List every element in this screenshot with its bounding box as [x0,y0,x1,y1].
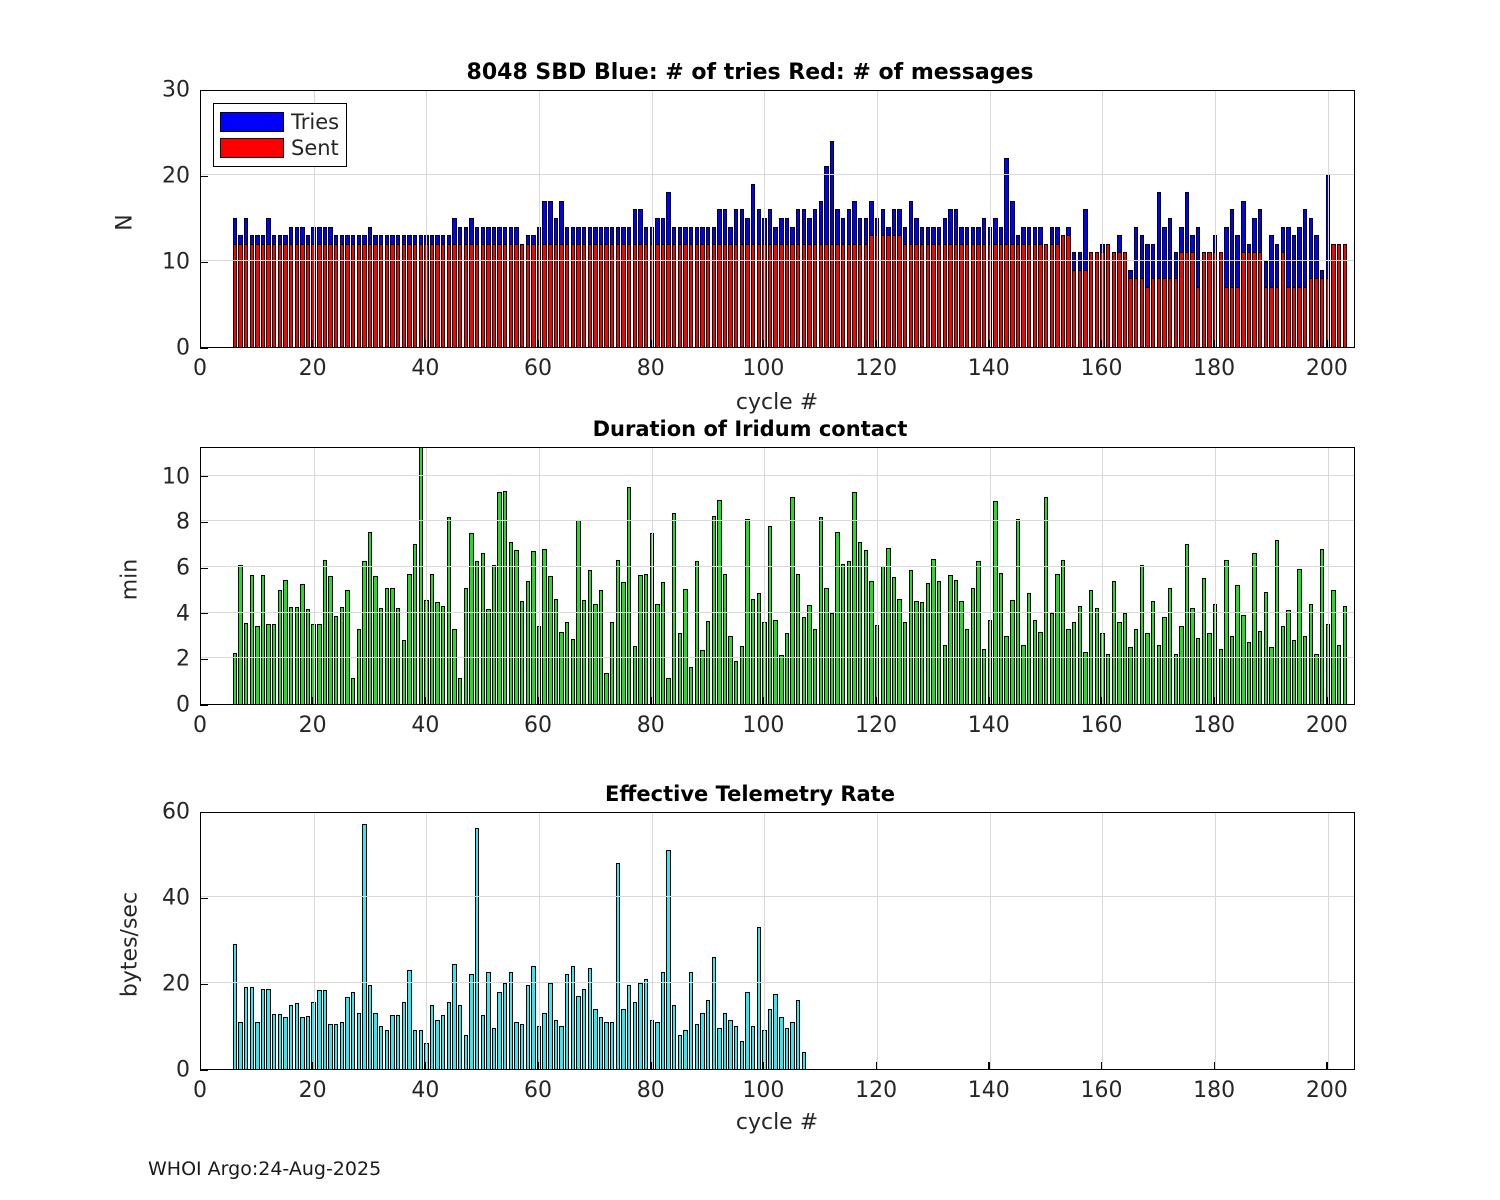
gridline-vertical [652,448,653,704]
bar-duration [1004,636,1008,704]
gridline-vertical [764,448,765,704]
gridline-vertical [1328,448,1329,704]
bar-duration [1241,615,1245,704]
bar-duration [385,588,389,704]
x-tick-label: 60 [524,356,552,381]
x-tick-label: 200 [1306,356,1348,381]
gridline-vertical [990,813,991,1069]
bar-rate [469,974,473,1069]
bar-rate [565,974,569,1069]
bar-duration [1224,560,1228,704]
y-tick-label: 10 [140,250,190,275]
bar-sent [1168,278,1172,347]
bar-sent [1309,278,1313,347]
y-axis-label-bytes-sec: bytes/sec [118,885,143,1005]
bar-duration [1066,629,1070,704]
gridline-vertical [877,813,878,1069]
bar-rate [323,990,327,1069]
y-tick-mark [200,613,208,614]
bar-duration [1145,633,1149,704]
bar-duration [689,667,693,704]
bar-duration [807,605,811,704]
bar-duration [881,566,885,704]
bar-sent [1066,235,1070,347]
bar-duration [1044,497,1048,704]
legend-sbd: Tries Sent [213,103,347,167]
bar-rate [745,992,749,1069]
gridline-vertical [314,448,315,704]
bar-duration [1089,590,1093,704]
bar-duration [886,548,890,704]
bar-sent [1264,287,1268,347]
x-tick-mark [988,1062,989,1070]
gridline-vertical [764,813,765,1069]
y-tick-label: 0 [140,336,190,361]
x-axis-label-cycle-3: cycle # [736,1110,818,1135]
bar-duration [1247,642,1251,704]
bar-duration [621,582,625,704]
bar-sent [1252,252,1256,347]
bar-rate [751,1026,755,1069]
x-tick-mark [1326,340,1327,348]
x-tick-mark [200,340,201,348]
gridline-vertical [426,91,427,347]
gridline-vertical [1328,91,1329,347]
bar-sent [1241,252,1245,347]
bar-duration [790,497,794,704]
bar-rate [695,1024,699,1069]
bar-rate [373,1013,377,1069]
bar-rate [452,964,456,1069]
bar-duration [328,576,332,704]
bar-duration [542,549,546,704]
bar-duration [712,516,716,704]
bar-duration [565,622,569,704]
bar-duration [740,646,744,704]
bar-rate [644,979,648,1069]
panel-telemetry-rate: Effective Telemetry Rate 020406002040608… [0,780,1500,1140]
bar-duration [993,501,997,704]
bar-sent [1230,287,1234,347]
gridline-horizontal [201,260,1354,261]
bar-duration [514,550,518,704]
bar-sent [1078,270,1082,347]
x-tick-mark [1101,340,1102,348]
x-tick-label: 160 [1080,1078,1122,1103]
bar-rate [475,828,479,1069]
legend-label-sent: Sent [291,138,339,159]
bar-duration [926,583,930,704]
bar-duration [706,621,710,704]
bar-duration [1168,588,1172,704]
gridline-vertical [1102,813,1103,1069]
bar-sent [1128,278,1132,347]
x-tick-mark [312,1062,313,1070]
gridline-vertical [1102,448,1103,704]
y-tick-mark [200,522,208,523]
bar-duration [244,623,248,704]
bar-rate [627,985,631,1069]
bar-rate [773,994,777,1069]
bar-duration [503,491,507,704]
bar-rate [300,1017,304,1069]
bar-duration [914,601,918,704]
bar-sent [1072,270,1076,347]
bar-rate [757,927,761,1069]
x-tick-mark [1326,697,1327,705]
bar-rate [717,1028,721,1069]
bar-duration [666,678,670,704]
bar-duration [250,575,254,704]
bar-sent [1281,252,1285,347]
bar-sent [1320,278,1324,347]
x-tick-label: 120 [855,1078,897,1103]
x-tick-label: 160 [1080,713,1122,738]
bar-duration [1230,636,1234,704]
bar-duration [599,590,603,704]
gridline-vertical [1215,91,1216,347]
bar-duration [1269,647,1273,704]
bar-duration [1292,640,1296,704]
bar-duration [638,575,642,704]
bar-duration [233,653,237,704]
x-tick-label: 80 [637,356,665,381]
bar-rate [734,1026,738,1069]
x-tick-mark [425,1062,426,1070]
chart-title-rate: Effective Telemetry Rate [0,782,1500,806]
x-tick-mark [425,340,426,348]
bar-duration [616,560,620,704]
bar-duration [1112,581,1116,704]
bar-duration [481,553,485,704]
x-tick-label: 100 [742,713,784,738]
bar-duration [1303,636,1307,704]
bar-duration [334,616,338,704]
bar-duration [700,650,704,704]
gridline-horizontal [201,174,1354,175]
x-tick-mark [425,697,426,705]
gridline-vertical [539,91,540,347]
bar-sent [869,235,873,347]
bar-sent [1314,278,1318,347]
gridline-vertical [539,813,540,1069]
bar-rate [362,824,366,1069]
bar-sent [1112,252,1116,347]
bar-duration [266,624,270,704]
bar-duration [441,606,445,704]
y-axis-label-min: min [118,550,143,610]
bar-duration [373,576,377,704]
bar-rate [633,1002,637,1069]
bar-sent [1207,252,1211,347]
gridline-horizontal [201,566,1354,567]
legend-label-tries: Tries [291,112,339,133]
gridline-horizontal [201,982,1354,983]
bar-rate [503,983,507,1069]
gridline-vertical [652,813,653,1069]
bar-series-rate [201,813,1354,1069]
bar-duration [1281,626,1285,704]
x-tick-mark [1326,1062,1327,1070]
bar-duration [892,577,896,704]
bar-rate [345,997,349,1069]
bar-duration [655,604,659,704]
x-tick-mark [1214,340,1215,348]
bar-duration [1061,560,1065,704]
y-tick-label: 6 [140,556,190,581]
bar-duration [1320,549,1324,704]
x-tick-mark [650,340,651,348]
bar-sent [1134,278,1138,347]
plot-area-sbd [200,90,1355,348]
bar-rate [283,1017,287,1069]
bar-sent [1095,252,1099,347]
bar-duration [323,560,327,704]
bar-rate [289,1005,293,1070]
bar-duration [1021,645,1025,704]
bar-duration [830,613,834,704]
y-tick-label: 0 [140,693,190,718]
bar-duration [678,633,682,704]
bar-rate [616,863,620,1069]
bar-duration [554,599,558,704]
bar-duration [1106,654,1110,704]
y-axis-label-n: N [113,203,138,243]
bar-rate [351,992,355,1069]
x-tick-mark [1214,697,1215,705]
x-tick-mark [876,1062,877,1070]
x-tick-label: 140 [968,356,1010,381]
bar-duration [954,580,958,704]
bar-sent [1140,278,1144,347]
bar-duration [278,590,282,704]
footer-credit: WHOI Argo:24-Aug-2025 [148,1158,381,1180]
bar-sent [1157,278,1161,347]
bar-rate [599,1017,603,1069]
bar-duration [1309,604,1313,704]
gridline-horizontal [201,896,1354,897]
x-tick-label: 120 [855,713,897,738]
x-tick-label: 20 [299,713,327,738]
x-tick-mark [312,340,313,348]
bar-duration [1123,613,1127,704]
bar-sent [1123,252,1127,347]
bar-duration [937,581,941,704]
bar-duration [604,673,608,704]
x-tick-mark [200,697,201,705]
gridline-vertical [764,91,765,347]
y-tick-mark [200,348,208,349]
bar-duration [1038,632,1042,704]
bar-duration [357,629,361,704]
bar-rate [447,1002,451,1069]
x-tick-label: 0 [193,713,207,738]
bar-rate [588,968,592,1069]
bar-duration [773,620,777,704]
bar-rate [700,1013,704,1069]
bar-duration [379,608,383,704]
panel-sbd-tries-sent: 8048 SBD Blue: # of tries Red: # of mess… [0,55,1500,405]
bar-rate [576,996,580,1069]
bar-rate [610,1022,614,1069]
bar-duration [295,607,299,704]
bar-duration [819,517,823,704]
bar-rate [486,972,490,1069]
legend-swatch-sent [220,138,284,158]
bar-duration [430,574,434,704]
x-tick-label: 140 [968,713,1010,738]
bar-duration [413,544,417,704]
bar-duration [588,570,592,704]
gridline-vertical [1102,91,1103,347]
y-tick-mark [200,705,208,706]
bar-duration [407,574,411,704]
panel-iridium-duration: Duration of Iridum contact 0246810020406… [0,415,1500,745]
y-tick-mark [200,812,208,813]
bar-sent [1292,287,1296,347]
bar-rate [706,1000,710,1069]
bar-duration [751,599,755,704]
x-tick-label: 100 [742,356,784,381]
bar-duration [1055,574,1059,704]
bar-duration [847,561,851,704]
y-tick-label: 2 [140,647,190,672]
x-tick-label: 60 [524,713,552,738]
x-tick-label: 0 [193,356,207,381]
bar-duration [362,561,366,704]
bar-rate [768,1009,772,1069]
bar-rate [678,1035,682,1069]
gridline-vertical [877,91,878,347]
bar-duration [757,593,761,704]
bar-sent [897,235,901,347]
bar-rate [250,987,254,1069]
bar-sent [1275,287,1279,347]
x-tick-mark [988,697,989,705]
x-tick-mark [1101,1062,1102,1070]
bar-rate [582,989,586,1069]
gridline-vertical [539,448,540,704]
x-tick-label: 200 [1306,1078,1348,1103]
y-tick-mark [200,984,208,985]
bar-duration [255,626,259,704]
bar-sent [1061,235,1065,347]
bar-duration [582,600,586,704]
gridline-horizontal [201,520,1354,521]
bar-duration [695,561,699,704]
legend-row-tries: Tries [220,109,339,135]
bar-rate [548,983,552,1069]
bar-duration [475,561,479,704]
bar-duration [396,608,400,704]
bar-duration [1050,613,1054,704]
bar-duration [897,599,901,704]
bar-duration [238,565,242,704]
bar-duration [1117,622,1121,704]
bar-duration [931,559,935,704]
bar-sent [1151,278,1155,347]
bar-duration [903,622,907,704]
bar-duration [1134,629,1138,704]
bar-rate [655,1022,659,1069]
bar-duration [779,655,783,704]
bar-duration [402,640,406,704]
bar-duration [464,588,468,704]
gridline-horizontal [201,475,1354,476]
bar-rate [407,970,411,1069]
x-tick-label: 40 [411,713,439,738]
bar-duration [435,602,439,704]
bar-rate [683,1030,687,1069]
bar-duration [272,624,276,704]
plot-area-duration [200,447,1355,705]
gridline-vertical [990,91,991,347]
y-tick-label: 60 [140,800,190,825]
bar-duration [661,582,665,704]
bar-duration [1140,565,1144,704]
bar-duration [1151,601,1155,704]
bar-duration [497,492,501,704]
bar-rate [554,1020,558,1069]
bar-rate [790,1022,794,1069]
bar-duration [419,447,423,704]
bar-duration [283,580,287,704]
x-tick-label: 180 [1193,356,1235,381]
bar-duration [976,561,980,704]
bar-duration [1207,633,1211,704]
gridline-vertical [990,448,991,704]
bar-rate [740,1041,744,1069]
bar-duration [1331,590,1335,704]
bar-rate [441,1015,445,1069]
bar-rate [604,1022,608,1069]
bar-rate [368,985,372,1069]
y-tick-label: 40 [140,886,190,911]
bar-rate [785,1028,789,1069]
bar-rate [520,1024,524,1069]
x-tick-mark [763,340,764,348]
bar-duration [1027,593,1031,704]
bar-duration [1179,626,1183,704]
y-tick-mark [200,1070,208,1071]
bar-sent [1190,252,1194,347]
bar-duration [1185,544,1189,704]
bar-duration [852,492,856,704]
bar-sent [1219,252,1223,347]
bar-sent [892,235,896,347]
y-tick-label: 8 [140,510,190,535]
x-tick-label: 60 [524,1078,552,1103]
bar-duration [492,565,496,704]
bar-duration [559,632,563,704]
x-tick-label: 80 [637,1078,665,1103]
bar-rate [559,1026,563,1069]
gridline-vertical [652,91,653,347]
bar-duration [1010,600,1014,704]
y-tick-mark [200,476,208,477]
bar-duration [390,588,394,704]
bar-sent [1286,287,1290,347]
bar-duration [368,532,372,704]
bar-duration [1157,645,1161,704]
bar-rate [542,1013,546,1069]
bar-rate [509,972,513,1069]
bar-sent [1179,252,1183,347]
x-tick-label: 40 [411,356,439,381]
y-tick-label: 0 [140,1058,190,1083]
bar-duration [261,575,265,704]
bar-sent [1224,287,1228,347]
